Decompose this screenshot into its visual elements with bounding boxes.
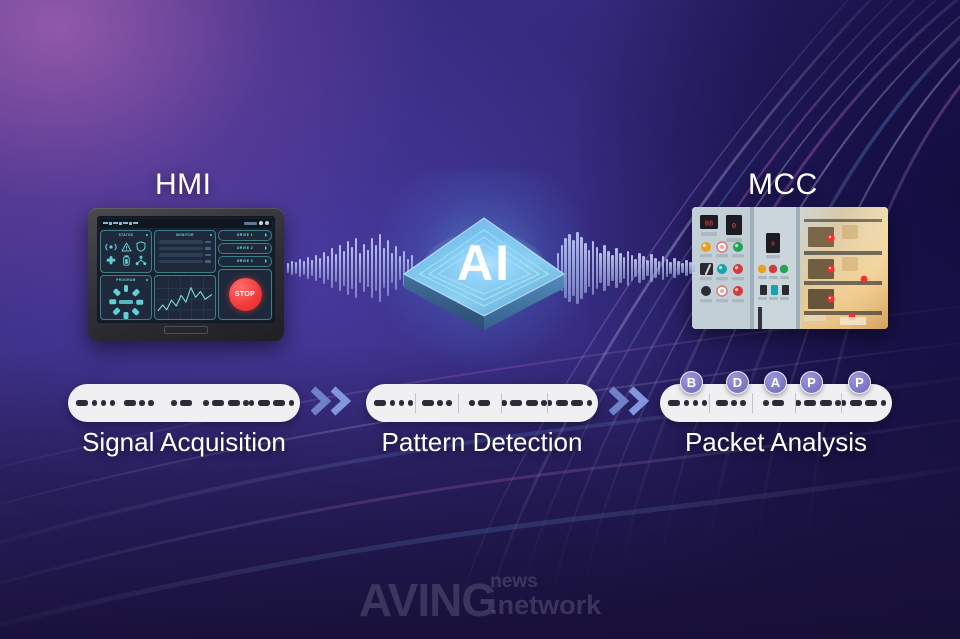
svg-text:88: 88 [705, 220, 713, 228]
svg-text:0: 0 [771, 241, 775, 248]
waveform-bar [351, 247, 354, 288]
signal-icon [105, 241, 117, 252]
waveform-bar [615, 248, 618, 287]
waveform-bar [291, 261, 294, 275]
monitor-bar-row [159, 247, 211, 251]
waveform-bar [662, 256, 665, 281]
warning-icon [120, 241, 132, 252]
pipeline-stage-packet-analysis: B D A P P Packet Analysis [660, 384, 892, 458]
waveform-bar [673, 258, 676, 279]
waveform-bar [331, 248, 334, 287]
stop-button[interactable]: STOP [229, 278, 262, 311]
waveform-bar [650, 254, 653, 283]
monitor-bar-row [159, 253, 211, 257]
waveform-bar [693, 264, 696, 272]
waveform-bar [335, 254, 338, 283]
hmi-body: STATUS [100, 230, 272, 321]
waveform-bar [646, 260, 649, 276]
chevron-right-icon [265, 246, 267, 250]
program-panel-indicator [146, 279, 148, 281]
monitor-bar-row [159, 240, 211, 244]
morse-group [74, 391, 117, 415]
hmi-program-panel: PROGRAM [100, 275, 152, 321]
pipeline-stage-pattern-detection: Pattern Detection [366, 384, 598, 458]
hmi-stop-panel: STOP [218, 269, 272, 321]
waveform-bar [638, 253, 641, 284]
waveform-bar [634, 259, 637, 278]
plus-icon [105, 255, 117, 266]
mcc-label: MCC [748, 168, 818, 202]
morse-group [458, 391, 501, 415]
hmi-column-middle: MONITOR [154, 230, 216, 321]
status-icon-grid [101, 237, 151, 266]
status-panel-indicator [146, 234, 148, 236]
waveform-bar [627, 251, 630, 286]
ai-chip: AI [398, 196, 570, 344]
ai-label: AI [398, 234, 570, 292]
waveform-bar [299, 259, 302, 276]
chevron-right-icon [265, 259, 267, 263]
monitor-bar-row [159, 260, 211, 264]
hmi-label: HMI [155, 168, 212, 202]
waveform-bar [669, 262, 672, 274]
pattern-detection-caption: Pattern Detection [366, 427, 598, 458]
waveform-bar [631, 255, 634, 282]
drive-button-1[interactable]: DRIVE 1 [218, 230, 272, 241]
clock-icon [244, 222, 257, 225]
drive-button-3-label: DRIVE 3 [237, 259, 253, 263]
hmi-column-right: DRIVE 1 DRIVE 2 DRIVE 3 STOP [218, 230, 272, 321]
pipeline-stage-signal-acquisition: Signal Acquisition [68, 384, 300, 458]
waveform-bar [343, 251, 346, 286]
waveform-bar [319, 258, 322, 279]
monitor-bar-list [155, 237, 215, 263]
pipeline-arrow-1 [311, 386, 355, 416]
drive-button-2-label: DRIVE 2 [237, 246, 253, 250]
morse-group [547, 391, 593, 415]
waveform-bar [339, 245, 342, 290]
battery-icon [120, 255, 132, 266]
waveform-bar [359, 253, 362, 284]
waveform-bar [607, 251, 610, 286]
pipeline: Signal Acquisition Pattern Detection [0, 372, 960, 462]
waveform-bar [677, 261, 680, 275]
waveform-bar [685, 260, 688, 276]
shield-icon [135, 241, 147, 252]
morse-group [709, 391, 752, 415]
mcc-photo: 88 0 [692, 207, 888, 329]
morse-group [249, 391, 295, 415]
waveform-bar [307, 257, 310, 280]
morse-group [666, 391, 709, 415]
waveform-bar [611, 255, 614, 282]
morse-group [415, 391, 458, 415]
waveform-bar [619, 253, 622, 284]
waveform-bar [311, 260, 314, 276]
monitor-panel-indicator [210, 234, 212, 236]
hmi-column-left: STATUS [100, 230, 152, 321]
hmi-statusbar-icons [244, 221, 269, 225]
waveform-bar [599, 253, 602, 284]
morse-group [160, 391, 203, 415]
waveform-bar [327, 256, 330, 281]
hmi-logo-icon [103, 222, 138, 225]
hmi-chart-panel [154, 275, 216, 321]
waveform-bar [287, 263, 290, 273]
pipeline-arrow-2 [609, 386, 653, 416]
waveform-bar [642, 256, 645, 281]
waveform-bar [603, 245, 606, 290]
waveform-bar [654, 258, 657, 279]
waveform-bar [623, 257, 626, 280]
waveform-bar [689, 262, 692, 273]
program-dial[interactable] [109, 285, 143, 319]
network-icon [135, 255, 147, 266]
waveform-bar [295, 262, 298, 273]
drive-button-1-label: DRIVE 1 [237, 233, 253, 237]
waveform-bar [355, 238, 358, 298]
signal-acquisition-pill[interactable] [68, 384, 300, 422]
program-dial-hub [119, 300, 133, 304]
hmi-screen: STATUS [97, 216, 275, 323]
morse-group [501, 391, 547, 415]
morse-group [117, 391, 160, 415]
morse-group [841, 391, 887, 415]
chevron-right-icon [265, 233, 267, 237]
waveform-bar [315, 255, 318, 282]
waveform-bar [666, 259, 669, 278]
infographic-canvas: HMI STATUS [0, 0, 960, 639]
waveform-bar [367, 250, 370, 287]
stop-button-label: STOP [235, 291, 255, 298]
waveform-bar [323, 252, 326, 285]
morse-group [795, 391, 841, 415]
drive-button-3[interactable]: DRIVE 3 [218, 256, 272, 267]
hmi-monitor-panel: MONITOR [154, 230, 216, 273]
waveform-bar [658, 261, 661, 275]
drive-button-2[interactable]: DRIVE 2 [218, 243, 272, 254]
svg-text:0: 0 [732, 222, 736, 230]
waveform-bar [347, 241, 350, 294]
morse-group [203, 391, 249, 415]
morse-group [752, 391, 795, 415]
morse-group [372, 391, 415, 415]
user-icon[interactable] [259, 221, 263, 225]
program-panel-title: PROGRAM [101, 276, 151, 283]
pattern-detection-pill[interactable] [366, 384, 598, 422]
signal-acquisition-caption: Signal Acquisition [68, 427, 300, 458]
gear-icon[interactable] [265, 221, 269, 225]
hmi-device[interactable]: STATUS [88, 208, 284, 341]
packet-analysis-caption: Packet Analysis [660, 427, 892, 458]
hmi-home-button[interactable] [164, 326, 208, 334]
waveform-bar [681, 263, 684, 273]
waveform-bar [363, 244, 366, 291]
waveform-bar [303, 261, 306, 274]
hmi-topbar [100, 219, 272, 228]
hmi-status-panel: STATUS [100, 230, 152, 273]
